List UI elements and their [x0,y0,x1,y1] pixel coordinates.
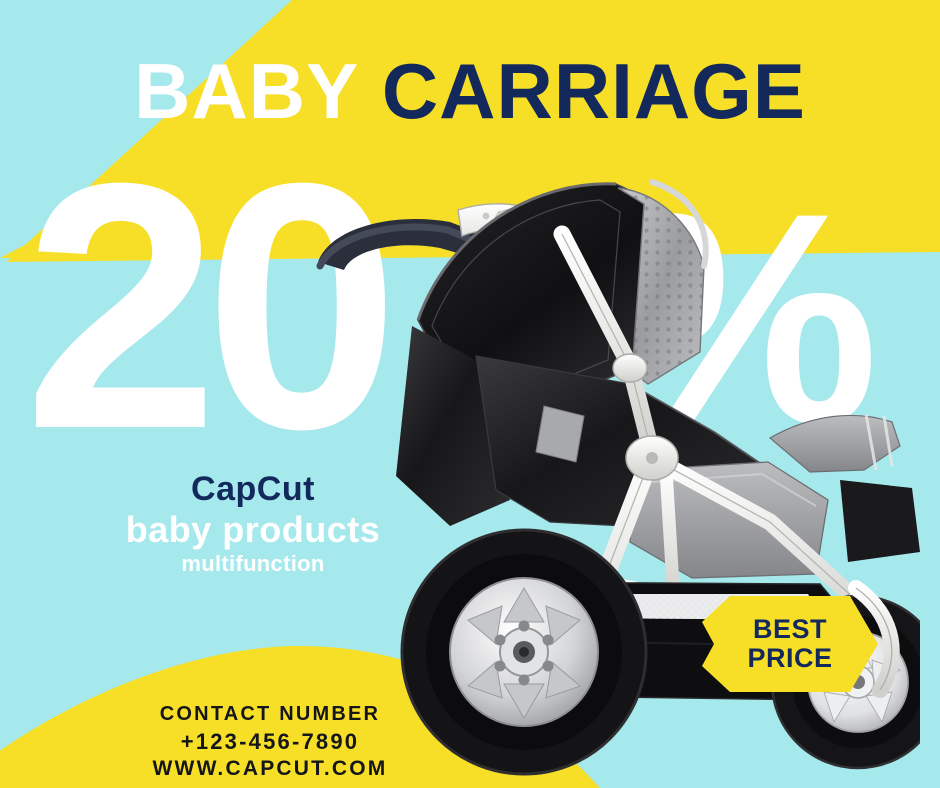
contact-label: CONTACT NUMBER [60,702,480,728]
contact-footer: CONTACT NUMBER +123-456-7890 WWW.CAPCUT.… [60,702,480,783]
headline-word-baby: BABY [134,47,359,135]
brand-subtagline: multifunction [38,550,468,579]
brand-name: CapCut [38,470,468,509]
headline-word-carriage: CARRIAGE [382,47,806,135]
brand-block: CapCut baby products multifunction [38,470,468,579]
page-title: BABY CARRIAGE [0,52,940,130]
badge-line-1: BEST [753,615,827,644]
contact-phone[interactable]: +123-456-7890 [60,728,480,756]
headline-space [359,47,382,135]
badge-text: BEST PRICE [700,592,880,696]
brand-tagline: baby products [38,509,468,550]
badge-line-2: PRICE [747,644,832,673]
best-price-badge[interactable]: BEST PRICE [700,592,880,696]
promo-poster: 20 % [0,0,940,788]
contact-website[interactable]: WWW.CAPCUT.COM [60,756,480,783]
